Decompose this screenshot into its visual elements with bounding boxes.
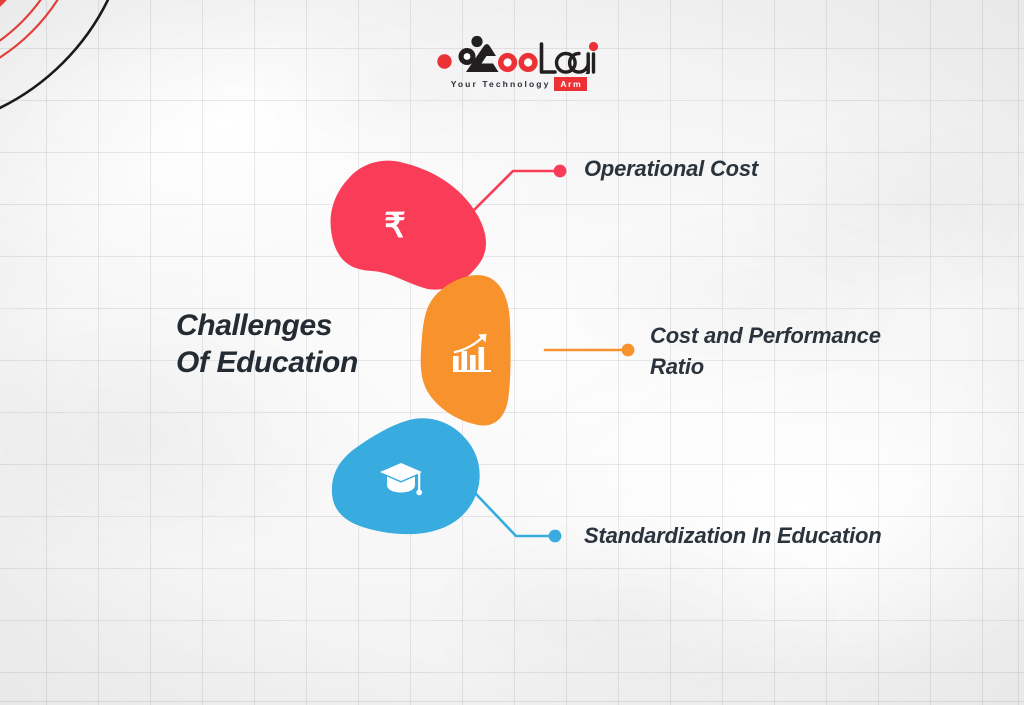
label-operational-cost[interactable]: Operational Cost	[584, 153, 758, 184]
rupee-glyph: ₹	[384, 206, 406, 246]
label-standardization-in-education[interactable]: Standardization In Education	[584, 520, 882, 551]
label-cost-and-performance-ratio[interactable]: Cost and Performance Ratio	[650, 320, 950, 382]
connector-operational-cost	[470, 165, 566, 214]
graduation-cap-icon	[378, 457, 424, 501]
connector-cost-performance	[545, 344, 634, 357]
infographic-canvas: Your Technology Arm Challenges Of Educat…	[0, 0, 1024, 705]
bar-chart-growth-icon	[450, 330, 494, 374]
connector-standardization	[476, 494, 561, 542]
rupee-icon: ₹	[372, 203, 418, 249]
